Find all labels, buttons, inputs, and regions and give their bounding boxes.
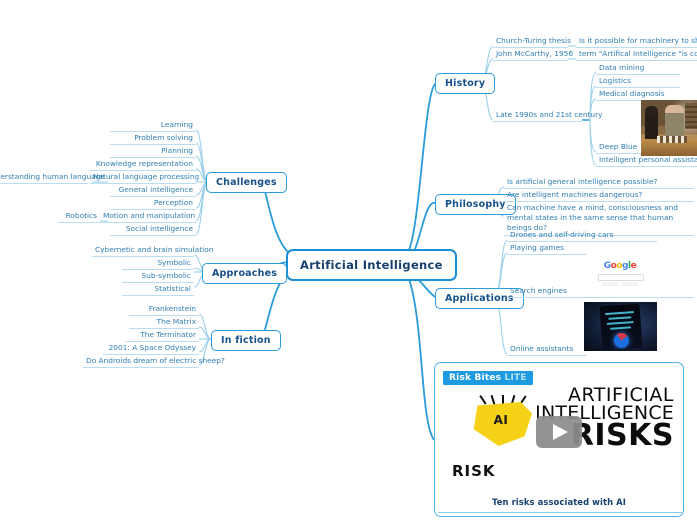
play-button-icon[interactable] [536, 416, 582, 448]
leaf-drones-and-self-driving-cars[interactable]: Drones and self-driving cars [507, 229, 657, 242]
leaf-is-it-possible-for-machinery[interactable]: Is it possible for machinery to show int… [576, 35, 697, 48]
leaf-statistical[interactable]: Statistical [122, 283, 194, 296]
leaf-sub-symbolic[interactable]: Sub-symbolic [122, 270, 194, 283]
leaf-late-1990s-and-21st-century[interactable]: Late 1990s and 21st century [493, 109, 582, 122]
risk-bites-badge-main: Risk Bites [449, 373, 501, 383]
leaf-planning[interactable]: Planning [110, 145, 196, 158]
root-label: Artificial Intelligence [300, 258, 443, 272]
leaf-are-intelligent-machines-dangerous[interactable]: Are intelligent machines dangerous? [504, 189, 694, 202]
google-search-button [602, 282, 618, 286]
leaf-motion-and-manipulation[interactable]: Motion and manipulation [100, 210, 196, 223]
leaf-social-intelligence[interactable]: Social intelligence [110, 223, 196, 236]
screen-text-line [610, 326, 631, 329]
deep-blue-chess-image[interactable] [641, 100, 697, 156]
leaf-general-intelligence[interactable]: General intelligence [110, 184, 196, 197]
google-search-image[interactable]: Google [591, 257, 649, 289]
branch-in-fiction[interactable]: In fiction [211, 330, 281, 351]
leaf-john-mccarthy-1956[interactable]: John McCarthy, 1956 [493, 48, 568, 61]
screen-text-line [608, 316, 631, 320]
google-search-box [598, 274, 644, 281]
leaf-learning[interactable]: Learning [110, 119, 196, 132]
branch-challenges[interactable]: Challenges [206, 172, 287, 193]
leaf-knowledge-representation[interactable]: Knowledge representation [90, 158, 196, 171]
leaf-term-artificial-intelligence-coined[interactable]: term "Artifical Intelligence "is coined [576, 48, 697, 61]
person-right-detail [665, 105, 684, 138]
screen-text-line [607, 321, 634, 325]
google-logo: Google [604, 262, 636, 271]
branch-challenges-label: Challenges [216, 177, 277, 188]
branch-history[interactable]: History [435, 73, 495, 94]
leaf-robotics[interactable]: Robotics [58, 210, 100, 223]
leaf-the-matrix[interactable]: The Matrix [129, 316, 199, 329]
person-left-detail [645, 106, 658, 140]
leaf-natural-language-processing[interactable]: Natural language processing [90, 171, 196, 184]
leaf-online-assistants[interactable]: Online assistants [507, 343, 587, 356]
leaf-problem-solving[interactable]: Problem solving [110, 132, 196, 145]
bookshelf-detail [685, 103, 697, 129]
screen-text-line [605, 311, 634, 315]
leaf-perception[interactable]: Perception [110, 197, 196, 210]
ai-shape-label: AI [494, 413, 509, 427]
risk-bites-badge-lite: LITE [505, 373, 527, 383]
leaf-the-terminator[interactable]: The Terminator [125, 329, 199, 342]
branch-applications-label: Applications [445, 293, 514, 304]
video-caption-underline [438, 512, 682, 513]
leaf-cybernetic-and-brain-simulation[interactable]: Cybernetic and brain simulation [92, 244, 194, 257]
branch-philosophy-label: Philosophy [445, 199, 506, 210]
leaf-frankenstein[interactable]: Frankenstein [129, 303, 199, 316]
leaf-do-androids-dream-of-electric-sheep[interactable]: Do Androids dream of electric sheep? [83, 355, 199, 368]
leaf-symbolic[interactable]: Symbolic [122, 257, 194, 270]
phone-screen-detail [600, 304, 643, 351]
leaf-church-turing-thesis[interactable]: Church-Turing thesis [493, 35, 568, 48]
mindmap-canvas: Artificial Intelligence Challenges Appro… [0, 0, 697, 520]
branch-history-label: History [445, 78, 485, 89]
branch-in-fiction-label: In fiction [221, 335, 271, 346]
video-thumbnail[interactable]: Risk Bites LITE AI RISK ARTIFICIAL INTEL… [440, 368, 678, 486]
root-node-artificial-intelligence[interactable]: Artificial Intelligence [286, 249, 457, 281]
leaf-data-mining[interactable]: Data mining [596, 62, 680, 75]
risk-word-label: RISK [452, 462, 496, 480]
branch-approaches[interactable]: Approaches [202, 263, 287, 284]
online-assistant-image[interactable] [584, 302, 657, 351]
leaf-playing-games[interactable]: Playing games [507, 242, 587, 255]
chessboard-detail [657, 136, 687, 143]
branch-approaches-label: Approaches [212, 268, 277, 279]
google-lucky-button [622, 282, 638, 286]
leaf-is-agi-possible[interactable]: Is artificial general intelligence possi… [504, 176, 694, 189]
leaf-logistics[interactable]: Logistics [596, 75, 680, 88]
video-attachment-card[interactable]: Risk Bites LITE AI RISK ARTIFICIAL INTEL… [434, 362, 684, 517]
leaf-understanding-human-language[interactable]: nderstanding human language [0, 171, 88, 184]
video-caption: Ten risks associated with AI [435, 497, 683, 507]
risk-bites-badge: Risk Bites LITE [443, 371, 533, 385]
assistant-orb-icon [613, 332, 629, 348]
leaf-2001-a-space-odyssey[interactable]: 2001: A Space Odyssey [103, 342, 199, 355]
